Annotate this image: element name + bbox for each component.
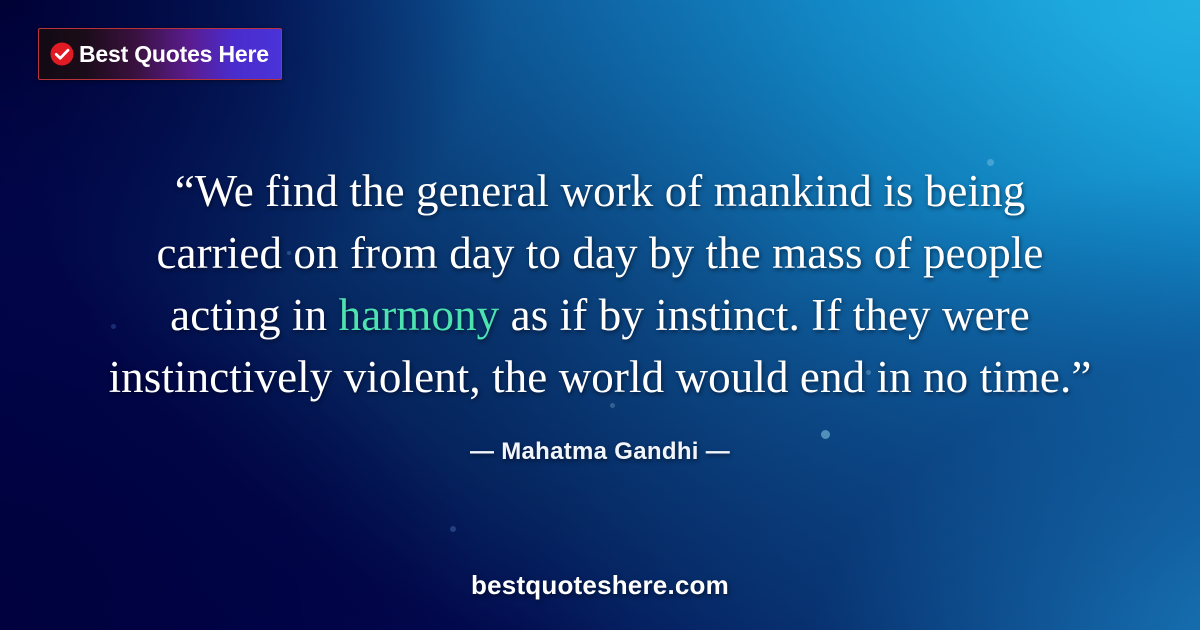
- quote-line-3-pre: acting in: [170, 290, 338, 340]
- quote-line-3-post: as if by instinct. If they were: [499, 290, 1030, 340]
- quote-graphic-canvas: Best Quotes Here “We find the general wo…: [0, 0, 1200, 630]
- site-logo-text: Best Quotes Here: [79, 43, 269, 66]
- quote-line-1: “We find the general work of mankind is …: [60, 160, 1140, 222]
- quote-keyword-harmony: harmony: [339, 290, 500, 340]
- footer-website-url: bestquoteshere.com: [0, 570, 1200, 601]
- quote-line-4: instinctively violent, the world would e…: [60, 346, 1140, 408]
- check-circle-icon: [49, 41, 75, 67]
- quote-attribution: — Mahatma Gandhi —: [0, 438, 1200, 466]
- quote-line-2: carried on from day to day by the mass o…: [60, 222, 1140, 284]
- quote-block: “We find the general work of mankind is …: [0, 160, 1200, 408]
- site-logo-badge[interactable]: Best Quotes Here: [38, 28, 282, 80]
- quote-line-3: acting in harmony as if by instinct. If …: [60, 284, 1140, 346]
